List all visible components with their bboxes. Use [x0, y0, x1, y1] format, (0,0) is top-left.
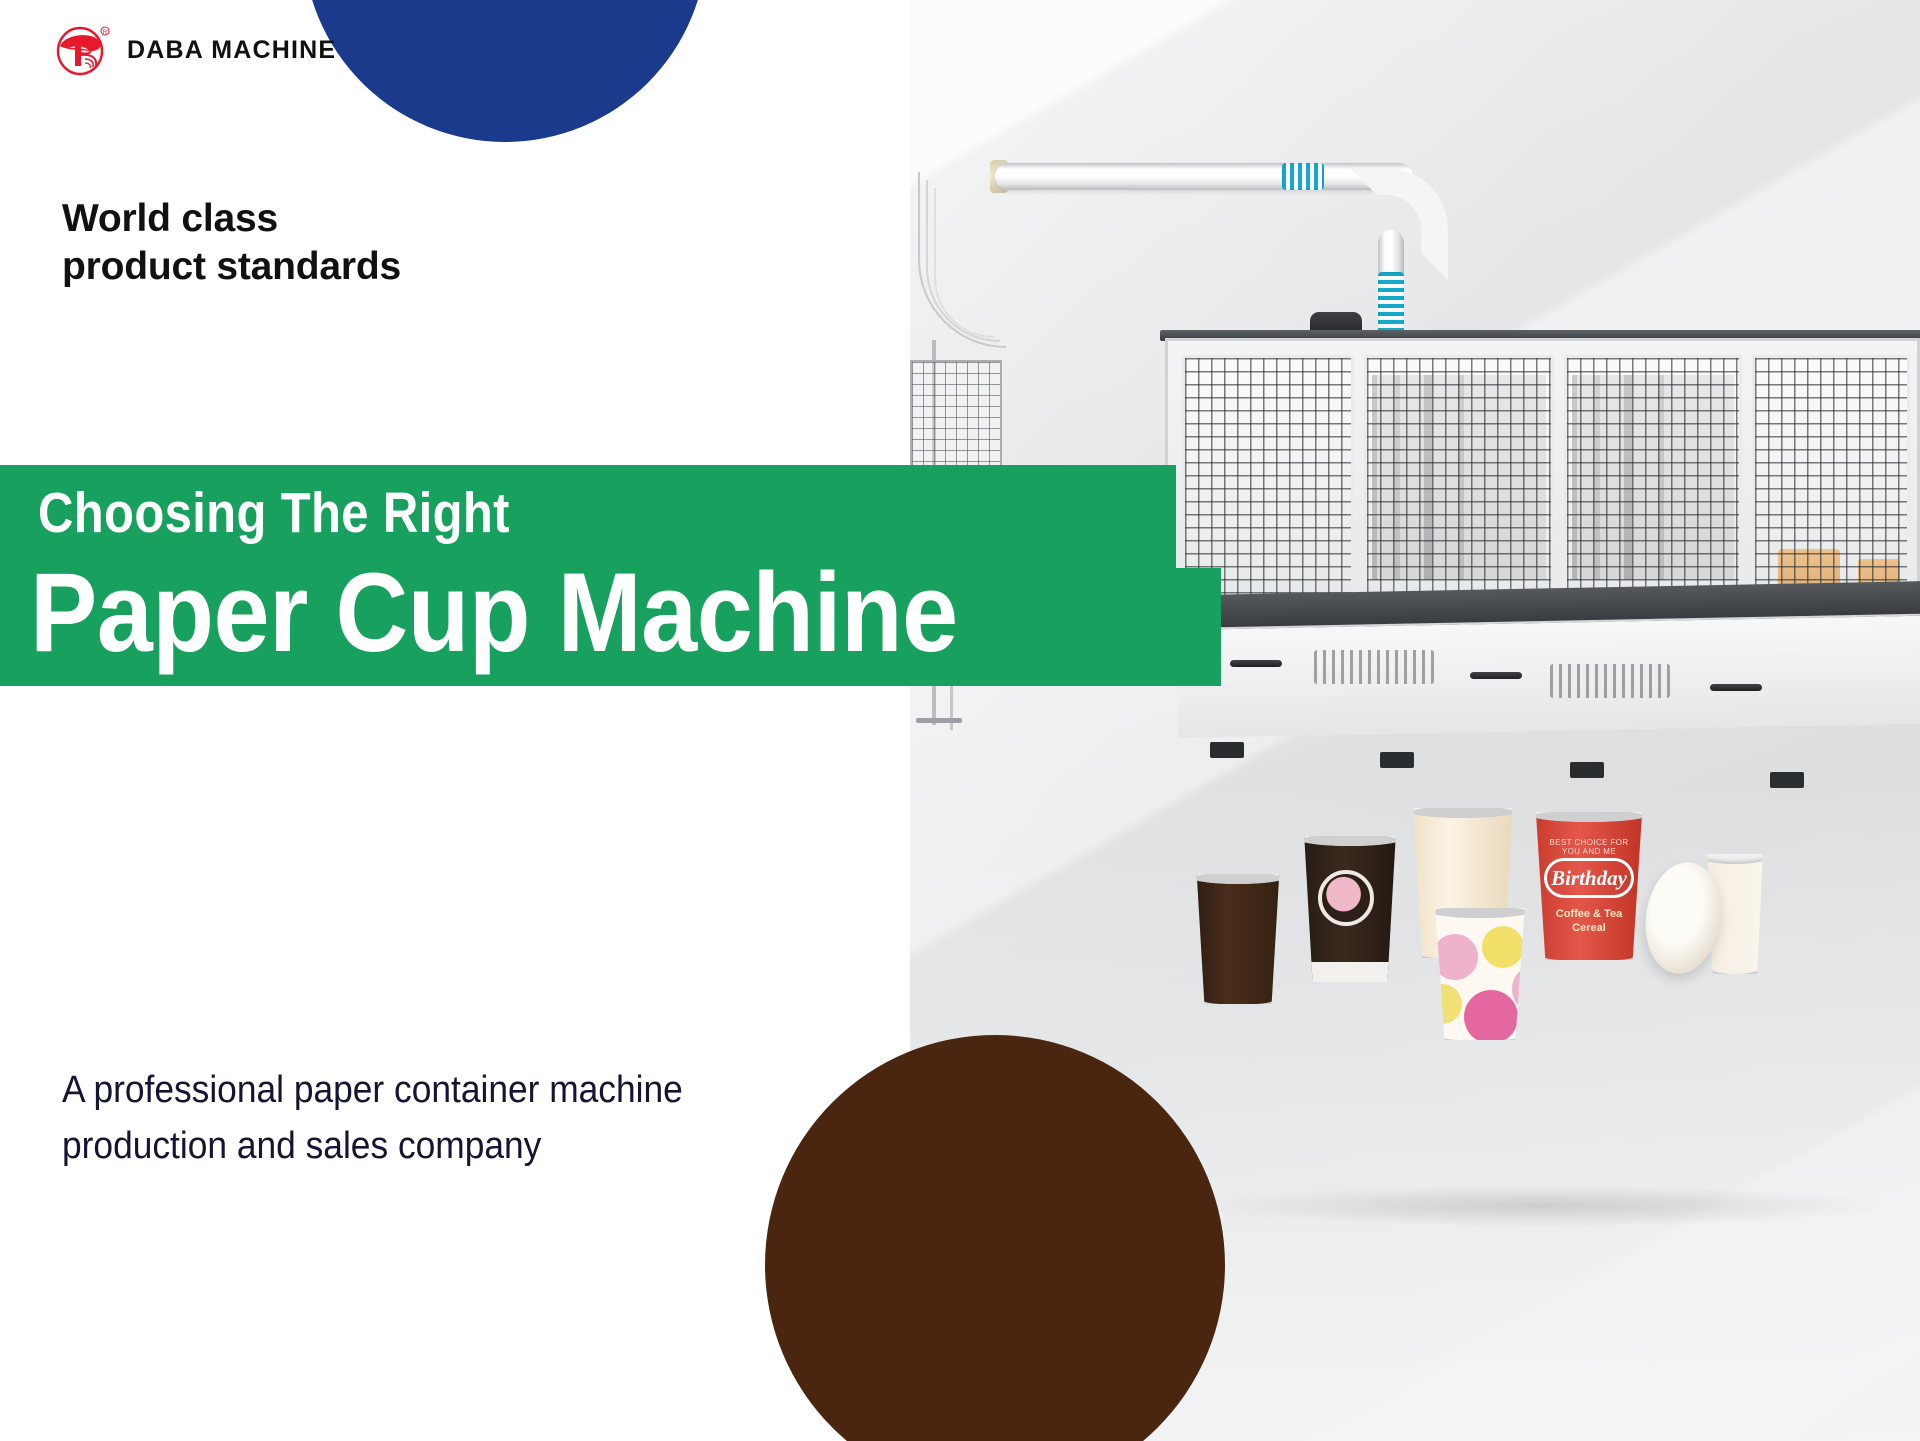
- drawer-handle-1: [1230, 660, 1282, 667]
- machine-base-cabinet: [1178, 614, 1920, 738]
- cup-interior: [1194, 872, 1282, 884]
- birthday-red-cup: BEST CHOICE FOR YOU AND ME Birthday Coff…: [1530, 812, 1648, 960]
- dot-decor: [1464, 990, 1518, 1040]
- birthday-cup-label: Birthday: [1544, 858, 1634, 898]
- cage-panel-2: [1364, 355, 1554, 599]
- conveyor-band-horizontal: [1282, 163, 1324, 190]
- cup-interior: [1534, 810, 1644, 822]
- machine-foot-3: [1570, 762, 1604, 778]
- cage-panel-4: [1752, 355, 1910, 599]
- polka-dot-cup: [1428, 908, 1532, 1040]
- machine-foot-4: [1770, 772, 1804, 788]
- base-vent-2: [1550, 664, 1670, 698]
- dot-decor: [1482, 926, 1524, 968]
- eyebrow-heading: World class product standards: [62, 195, 702, 290]
- cup-rim: [1698, 847, 1772, 864]
- eyebrow-line-2: product standards: [62, 243, 702, 291]
- drawer-handle-2: [1470, 672, 1522, 679]
- coffee-print-cup: [1190, 874, 1286, 1004]
- cups-ground-shadow: [1190, 1185, 1890, 1227]
- page-title: Paper Cup Machine: [30, 548, 958, 677]
- cage-panel-1: [1182, 355, 1354, 599]
- base-vent-1: [1314, 650, 1434, 684]
- ice-cream-logo-icon: [1318, 870, 1374, 926]
- brand-logo[interactable]: R DABA MACHINE: [55, 22, 336, 78]
- machine-foot-1: [1210, 742, 1244, 758]
- svg-text:R: R: [103, 30, 108, 36]
- daba-bird-emblem-icon: R: [55, 22, 113, 78]
- drawer-handle-3: [1710, 684, 1762, 691]
- machine-foot-2: [1380, 752, 1414, 768]
- cup-interior: [1412, 806, 1514, 818]
- cup-interior: [1432, 908, 1528, 918]
- ice-cream-brand-cup: [1298, 836, 1402, 982]
- birthday-cup-subtext: Coffee & Tea Cereal: [1540, 908, 1638, 936]
- body-paragraph: A professional paper container machine p…: [62, 1062, 694, 1174]
- decor-circle-navy: [303, 0, 707, 142]
- dot-decor: [1428, 984, 1462, 1024]
- eyebrow-line-1: World class: [62, 195, 702, 243]
- dot-decor: [1432, 934, 1478, 980]
- machine-cabinet: [1165, 338, 1920, 610]
- support-foot-left: [916, 718, 962, 723]
- brand-name: DABA MACHINE: [127, 36, 336, 65]
- cage-panel-3: [1564, 355, 1742, 599]
- cup-interior: [1302, 834, 1398, 846]
- poster-canvas: BEST CHOICE FOR YOU AND ME Birthday Coff…: [0, 0, 1920, 1441]
- headline-kicker: Choosing The Right: [38, 480, 510, 546]
- paper-cups-group: BEST CHOICE FOR YOU AND ME Birthday Coff…: [1180, 800, 1920, 1100]
- cup-foot-band: [1306, 962, 1393, 982]
- birthday-cup-tagline: BEST CHOICE FOR YOU AND ME: [1540, 838, 1638, 856]
